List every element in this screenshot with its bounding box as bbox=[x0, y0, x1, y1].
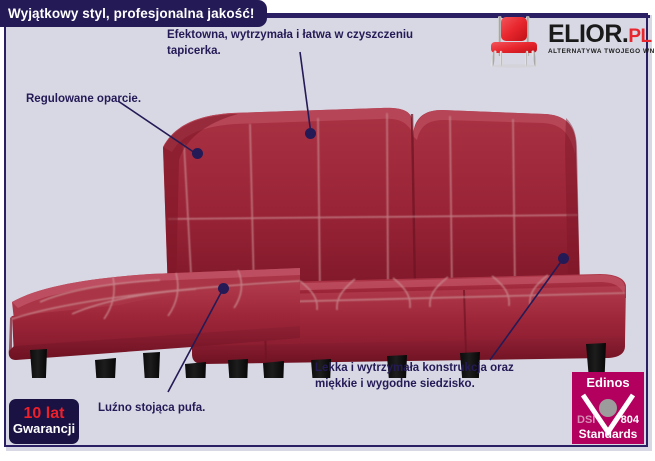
edinos-dsi: DSI bbox=[577, 414, 595, 426]
warranty-badge: 10 lat Gwarancji bbox=[9, 399, 79, 444]
logo-tagline: ALTERNATYWA TWOJEGO WNĘTRZA bbox=[548, 48, 655, 55]
callout-dot-backrest[interactable] bbox=[192, 148, 203, 159]
callout-label-ottoman: Luźno stojąca pufa. bbox=[98, 401, 205, 417]
product-infographic: Regulowane oparcie. Efektowna, wytrzymał… bbox=[0, 0, 655, 461]
callout-dot-ottoman[interactable] bbox=[218, 283, 229, 294]
warranty-word: Gwarancji bbox=[13, 422, 75, 437]
title-banner: Wyjątkowy styl, profesjonalna jakość! bbox=[0, 0, 267, 27]
page-title: Wyjątkowy styl, profesjonalna jakość! bbox=[8, 7, 255, 21]
callout-dot-upholstery[interactable] bbox=[305, 128, 316, 139]
callout-dot-frame[interactable] bbox=[558, 253, 569, 264]
sofa-backrest bbox=[163, 108, 580, 293]
callout-label-upholstery: Efektowna, wytrzymała i łatwa w czyszcze… bbox=[167, 28, 497, 59]
callout-frame-line1: Lekka i wytrzymała konstrukcja oraz bbox=[315, 361, 575, 377]
logo-brand: ELIOR bbox=[548, 20, 622, 48]
logo-tld: PL bbox=[628, 26, 651, 47]
callout-label-backrest: Regulowane oparcie. bbox=[26, 92, 141, 108]
logo-wordmark: ELIOR.PL bbox=[548, 23, 655, 47]
callout-frame-line2: miękkie i wygodne siedzisko. bbox=[315, 377, 575, 393]
edinos-standards: Standards bbox=[572, 427, 644, 441]
edinos-number: 804 bbox=[621, 414, 639, 426]
product-image bbox=[0, 88, 655, 378]
callout-label-frame: Lekka i wytrzymała konstrukcja oraz mięk… bbox=[315, 361, 575, 392]
warranty-years: 10 lat bbox=[24, 406, 65, 422]
callout-upholstery-line2: tapicerka. bbox=[167, 44, 497, 60]
callout-upholstery-line1: Efektowna, wytrzymała i łatwa w czyszcze… bbox=[167, 28, 497, 44]
edinos-badge: Edinos DSI 804 Standards bbox=[572, 372, 644, 444]
brand-logo[interactable]: ELIOR.PL ALTERNATYWA TWOJEGO WNĘTRZA bbox=[483, 8, 648, 70]
